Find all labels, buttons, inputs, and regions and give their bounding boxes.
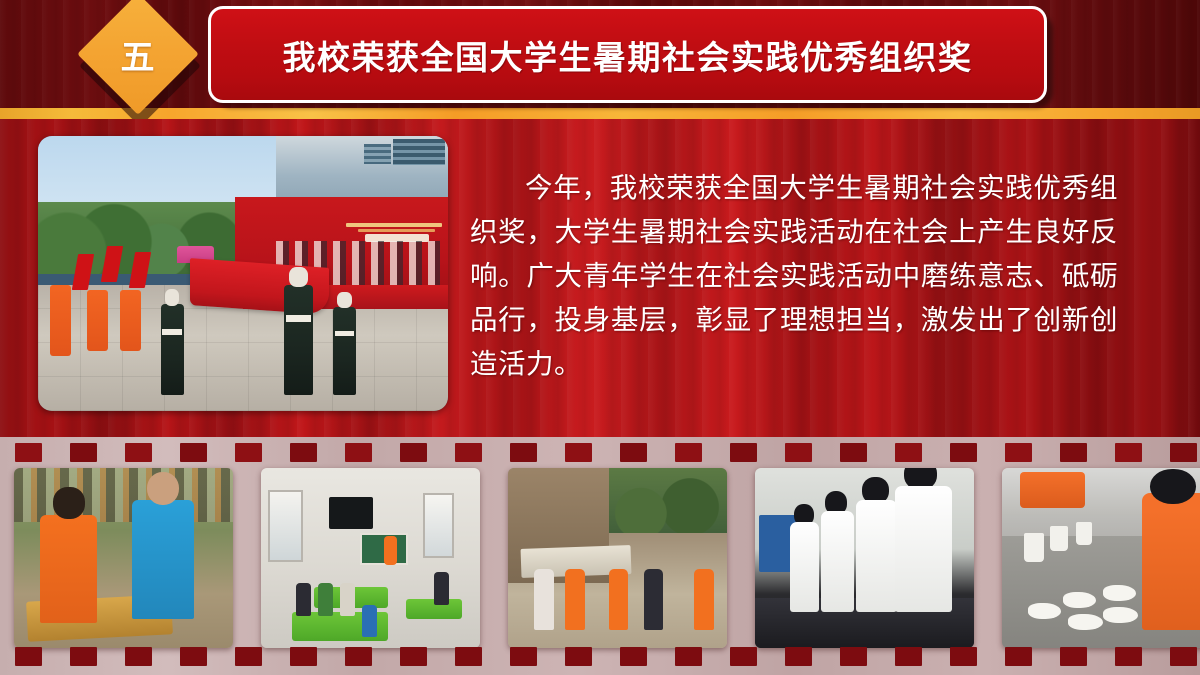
photo-building-windows-2 [364, 144, 392, 164]
sprocket-hole [125, 443, 152, 462]
sprocket-hole [125, 647, 152, 666]
photo-volunteer-1 [50, 285, 71, 357]
sprocket-hole [840, 443, 867, 462]
sprocket-hole [290, 647, 317, 666]
thumb3-person-2 [565, 569, 585, 630]
sprocket-hole [895, 647, 922, 666]
photo-honor-guard-3 [161, 304, 184, 395]
sprocket-hole [675, 443, 702, 462]
thumb4-labcoat-2 [821, 511, 854, 612]
sprocket-hole [730, 443, 757, 462]
photo-backdrop-headline [346, 223, 442, 227]
sprocket-hole [840, 647, 867, 666]
photo-honor-guard-2 [333, 307, 356, 395]
photo-backdrop-subline [358, 229, 435, 232]
thumb3-person-5 [694, 569, 714, 630]
list-item[interactable] [1002, 468, 1200, 648]
sprocket-hole [895, 443, 922, 462]
sprocket-hole [400, 647, 427, 666]
thumb4-labcoat-3 [856, 500, 898, 612]
sprocket-hole [455, 647, 482, 666]
thumb2-child-2 [318, 583, 333, 615]
thumb1-villager [132, 500, 193, 619]
thumb2-child-4 [362, 605, 377, 637]
section-number-label: 五 [95, 11, 181, 97]
thumb2-window-right [423, 493, 454, 558]
sprocket-hole [950, 443, 977, 462]
thumb3-person-4 [644, 569, 664, 630]
list-item[interactable] [755, 468, 974, 648]
sprocket-hole [15, 443, 42, 462]
sprocket-hole [1005, 647, 1032, 666]
filmstrip-sprockets-bottom [0, 647, 1200, 669]
list-item[interactable] [14, 468, 233, 648]
thumb2-teacher [384, 536, 397, 565]
thumb3-person-1 [534, 569, 554, 630]
photo-building-windows [393, 139, 445, 165]
sprocket-hole [620, 443, 647, 462]
sprocket-hole [345, 647, 372, 666]
thumb2-window-left [268, 490, 303, 562]
thumb2-child-5 [434, 572, 449, 604]
sprocket-hole [1005, 443, 1032, 462]
sprocket-hole [235, 443, 262, 462]
thumb1-crowd [14, 468, 233, 522]
thumb4-labcoat-1 [790, 522, 818, 612]
sprocket-hole [565, 443, 592, 462]
sprocket-hole [1060, 647, 1087, 666]
thumb5-product-5 [1103, 607, 1138, 623]
sprocket-hole [675, 647, 702, 666]
sprocket-hole [180, 647, 207, 666]
title-plaque: 我校荣获全国大学生暑期社会实践优秀组织奖 [208, 6, 1047, 103]
photo-volunteer-3 [120, 290, 141, 351]
list-item[interactable] [508, 468, 727, 648]
sprocket-hole [785, 647, 812, 666]
thumb5-product-1 [1028, 603, 1061, 619]
sprocket-hole [15, 647, 42, 666]
sprocket-hole [400, 443, 427, 462]
sprocket-hole [620, 647, 647, 666]
sprocket-hole [70, 647, 97, 666]
sprocket-hole [950, 647, 977, 666]
thumb2-child-3 [340, 583, 355, 615]
thumb5-cup-1 [1024, 533, 1044, 562]
filmstrip-sprockets-top [0, 443, 1200, 465]
sprocket-hole [510, 647, 537, 666]
thumb2-child-1 [296, 583, 311, 615]
thumb4-labcoat-4 [895, 486, 952, 612]
sprocket-hole [290, 443, 317, 462]
thumb3-trees [604, 468, 727, 533]
thumb5-product-3 [1068, 614, 1103, 630]
sprocket-hole [1170, 443, 1197, 462]
thumb2-tv [329, 497, 373, 529]
thumb5-cup-2 [1050, 526, 1068, 551]
sprocket-hole [1060, 443, 1087, 462]
sprocket-hole [1115, 443, 1142, 462]
main-photo [38, 136, 448, 411]
photo-volunteer-2 [87, 290, 108, 351]
page-title: 我校荣获全国大学生暑期社会实践优秀组织奖 [283, 31, 973, 79]
sprocket-hole [510, 443, 537, 462]
body-paragraph: 今年，我校荣获全国大学生暑期社会实践优秀组织奖，大学生暑期社会实践活动在社会上产… [470, 166, 1118, 386]
sprocket-hole [730, 647, 757, 666]
sprocket-hole [455, 443, 482, 462]
thumb5-orange-items [1020, 472, 1086, 508]
thumb3-person-3 [609, 569, 629, 630]
photo-honor-guard-1 [284, 285, 313, 395]
thumb1-volunteer [40, 515, 97, 623]
sprocket-hole [565, 647, 592, 666]
sprocket-hole [785, 443, 812, 462]
thumb5-product-4 [1103, 585, 1136, 601]
filmstrip-thumbnails [0, 468, 1200, 648]
thumb5-worker [1142, 493, 1200, 630]
sprocket-hole [345, 443, 372, 462]
sprocket-hole [1115, 647, 1142, 666]
gold-accent-stripe [0, 108, 1200, 119]
sprocket-hole [1170, 647, 1197, 666]
thumb5-cup-3 [1076, 522, 1091, 545]
sprocket-hole [180, 443, 207, 462]
list-item[interactable] [261, 468, 480, 648]
sprocket-hole [235, 647, 262, 666]
sprocket-hole [70, 443, 97, 462]
photo-filmstrip [0, 437, 1200, 675]
presentation-slide: 五 我校荣获全国大学生暑期社会实践优秀组织奖 今年，我校荣获全国大学 [0, 0, 1200, 675]
